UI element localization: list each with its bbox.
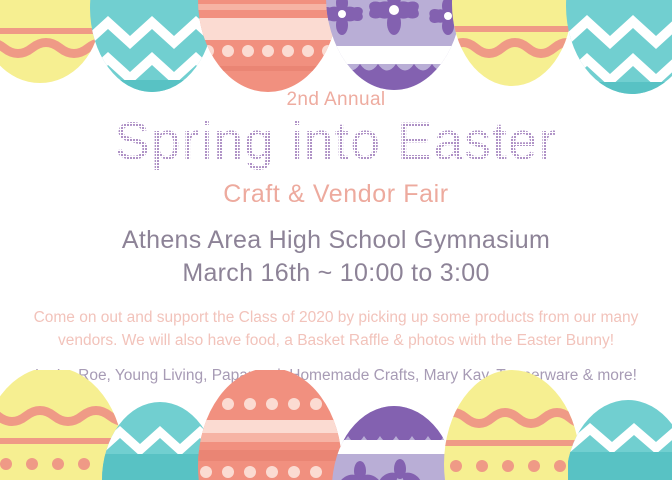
flyer-text-block: 2nd Annual Spring into Easter Craft & Ve… bbox=[0, 88, 672, 387]
egg-yellow-wavy-top-right bbox=[450, 0, 580, 96]
egg-coral-striped-bottom bbox=[196, 370, 346, 480]
easter-egg-border-top bbox=[0, 0, 672, 96]
annual-label: 2nd Annual bbox=[0, 88, 672, 112]
egg-teal-chevron-bottom-right bbox=[568, 398, 672, 480]
date-time: March 16th ~ 10:00 to 3:00 bbox=[0, 257, 672, 290]
egg-purple-flower-top bbox=[319, 0, 470, 96]
subtitle: Craft & Vendor Fair bbox=[0, 178, 672, 210]
egg-teal-chevron-top-right bbox=[564, 0, 672, 96]
flower-cluster bbox=[319, 0, 469, 35]
body-paragraph: Come on out and support the Class of 202… bbox=[21, 306, 651, 352]
venue: Athens Area High School Gymnasium bbox=[0, 224, 672, 257]
page-title: Spring into Easter bbox=[0, 112, 672, 172]
egg-purple-scallop-bottom bbox=[330, 398, 460, 480]
egg-coral-dots-top bbox=[196, 0, 342, 96]
easter-egg-border-bottom bbox=[0, 370, 672, 480]
page-title-text: Spring into Easter bbox=[115, 112, 558, 171]
easter-craft-fair-flyer: 2nd Annual Spring into Easter Craft & Ve… bbox=[0, 0, 672, 480]
